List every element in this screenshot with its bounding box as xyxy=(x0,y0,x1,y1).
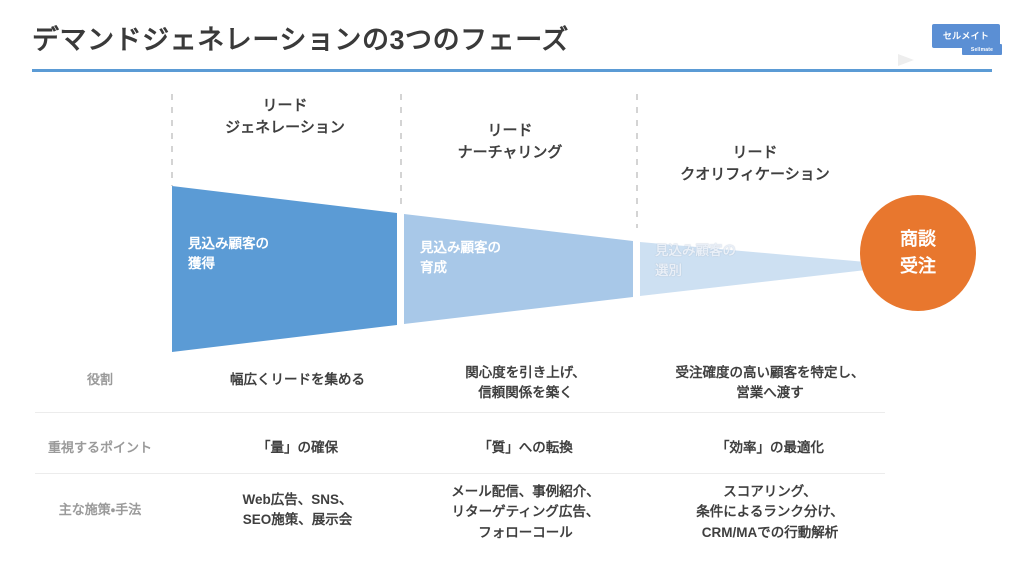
phase-heading-3: リード クオリフィケーション xyxy=(645,142,865,186)
stage-label-2: 見込み顧客の 育成 xyxy=(420,238,501,279)
table-cell-2-1: 「量」の確保 xyxy=(190,438,405,458)
table-separator-2 xyxy=(35,473,885,474)
brand-logo-label: セルメイト xyxy=(943,32,989,41)
table-row-label-3: 主な施策・手法 xyxy=(20,500,180,520)
brand-logo-sub-label: Sellmate xyxy=(971,47,993,53)
table-cell-3-1: Web広告、SNS、 SEO施策、展示会 xyxy=(190,490,405,531)
table-cell-3-2: メール配信、事例紹介、 リターゲティング広告、 フォローコール xyxy=(418,482,633,543)
phase-heading-2: リード ナーチャリング xyxy=(410,120,610,164)
goal-circle-label: 商談 受注 xyxy=(860,200,976,306)
table-separator-1 xyxy=(35,412,885,413)
stage-label-1: 見込み顧客の 獲得 xyxy=(188,234,269,275)
play-triangle-icon xyxy=(898,54,914,66)
page-title: デマンドジェネレーションの3つのフェーズ xyxy=(32,18,569,57)
table-cell-1-1: 幅広くリードを集める xyxy=(190,370,405,390)
table-cell-2-2: 「質」への転換 xyxy=(418,438,633,458)
table-cell-2-3: 「効率」の最適化 xyxy=(650,438,890,458)
stage-label-3: 見込み顧客の 選別 xyxy=(655,241,736,282)
table-row-label-1: 役割 xyxy=(20,370,180,390)
table-cell-3-3: スコアリング、 条件によるランク分け、 CRM/MAでの行動解析 xyxy=(650,482,890,543)
slide-root: デマンドジェネレーションの3つのフェーズ セルメイト Sellmate リード … xyxy=(0,0,1024,576)
table-cell-1-3: 受注確度の高い顧客を特定し、 営業へ渡す xyxy=(650,363,890,404)
phase-heading-1: リード ジェネレーション xyxy=(185,95,385,139)
table-row-label-2: 重視するポイント xyxy=(20,438,180,458)
header-divider xyxy=(32,69,992,72)
brand-logo-sub-badge: Sellmate xyxy=(962,44,1002,55)
table-cell-1-2: 関心度を引き上げ、 信頼関係を築く xyxy=(418,363,633,404)
goal-line-1: 商談 xyxy=(900,229,936,250)
goal-line-2: 受注 xyxy=(900,256,936,277)
